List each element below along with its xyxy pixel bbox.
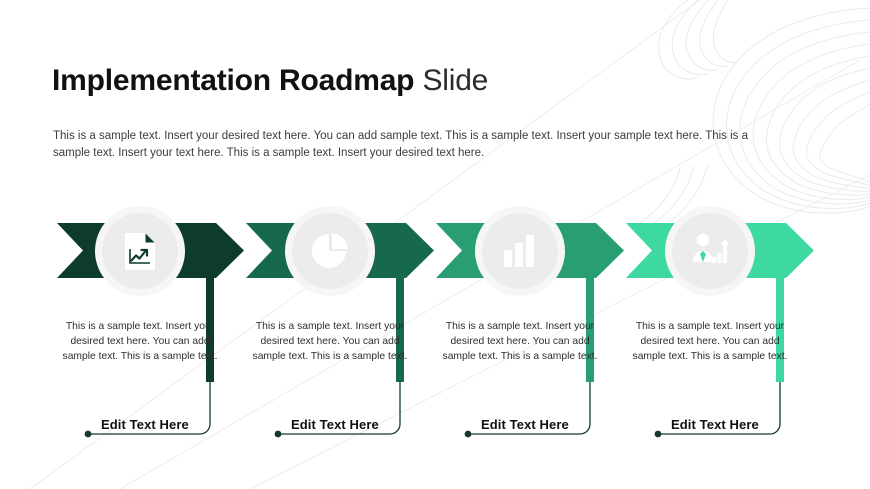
step-description-2: This is a sample text. Insert your desir… — [244, 319, 416, 364]
connector-dot-2 — [275, 431, 282, 438]
intro-paragraph: This is a sample text. Insert your desir… — [53, 128, 763, 162]
step-node-circle-4[interactable] — [672, 213, 748, 289]
title-light-part: Slide — [422, 64, 488, 97]
roadmap-chevron-band — [0, 200, 870, 310]
slide-canvas: Implementation Roadmap Slide This is a s… — [0, 0, 870, 489]
document-chart-icon — [123, 232, 157, 270]
bar-chart-icon — [502, 234, 538, 268]
businessman-growth-icon — [690, 233, 730, 269]
title-bold-part: Implementation Roadmap — [52, 64, 414, 97]
step-node-circle-2[interactable] — [292, 213, 368, 289]
connector-dot-1 — [85, 431, 92, 438]
background-swirl-decoration — [570, 0, 870, 230]
step-node-circle-1[interactable] — [102, 213, 178, 289]
connector-dot-3 — [465, 431, 472, 438]
pie-chart-icon — [311, 232, 349, 270]
connector-dot-4 — [655, 431, 662, 438]
step-description-4: This is a sample text. Insert your desir… — [624, 319, 796, 364]
step-label-4[interactable]: Edit Text Here — [671, 417, 759, 432]
slide-title: Implementation Roadmap Slide — [52, 64, 488, 98]
step-description-3: This is a sample text. Insert your desir… — [434, 319, 606, 364]
step-label-1[interactable]: Edit Text Here — [101, 417, 189, 432]
step-label-2[interactable]: Edit Text Here — [291, 417, 379, 432]
step-description-1: This is a sample text. Insert your desir… — [54, 319, 226, 364]
step-node-circle-3[interactable] — [482, 213, 558, 289]
step-label-3[interactable]: Edit Text Here — [481, 417, 569, 432]
